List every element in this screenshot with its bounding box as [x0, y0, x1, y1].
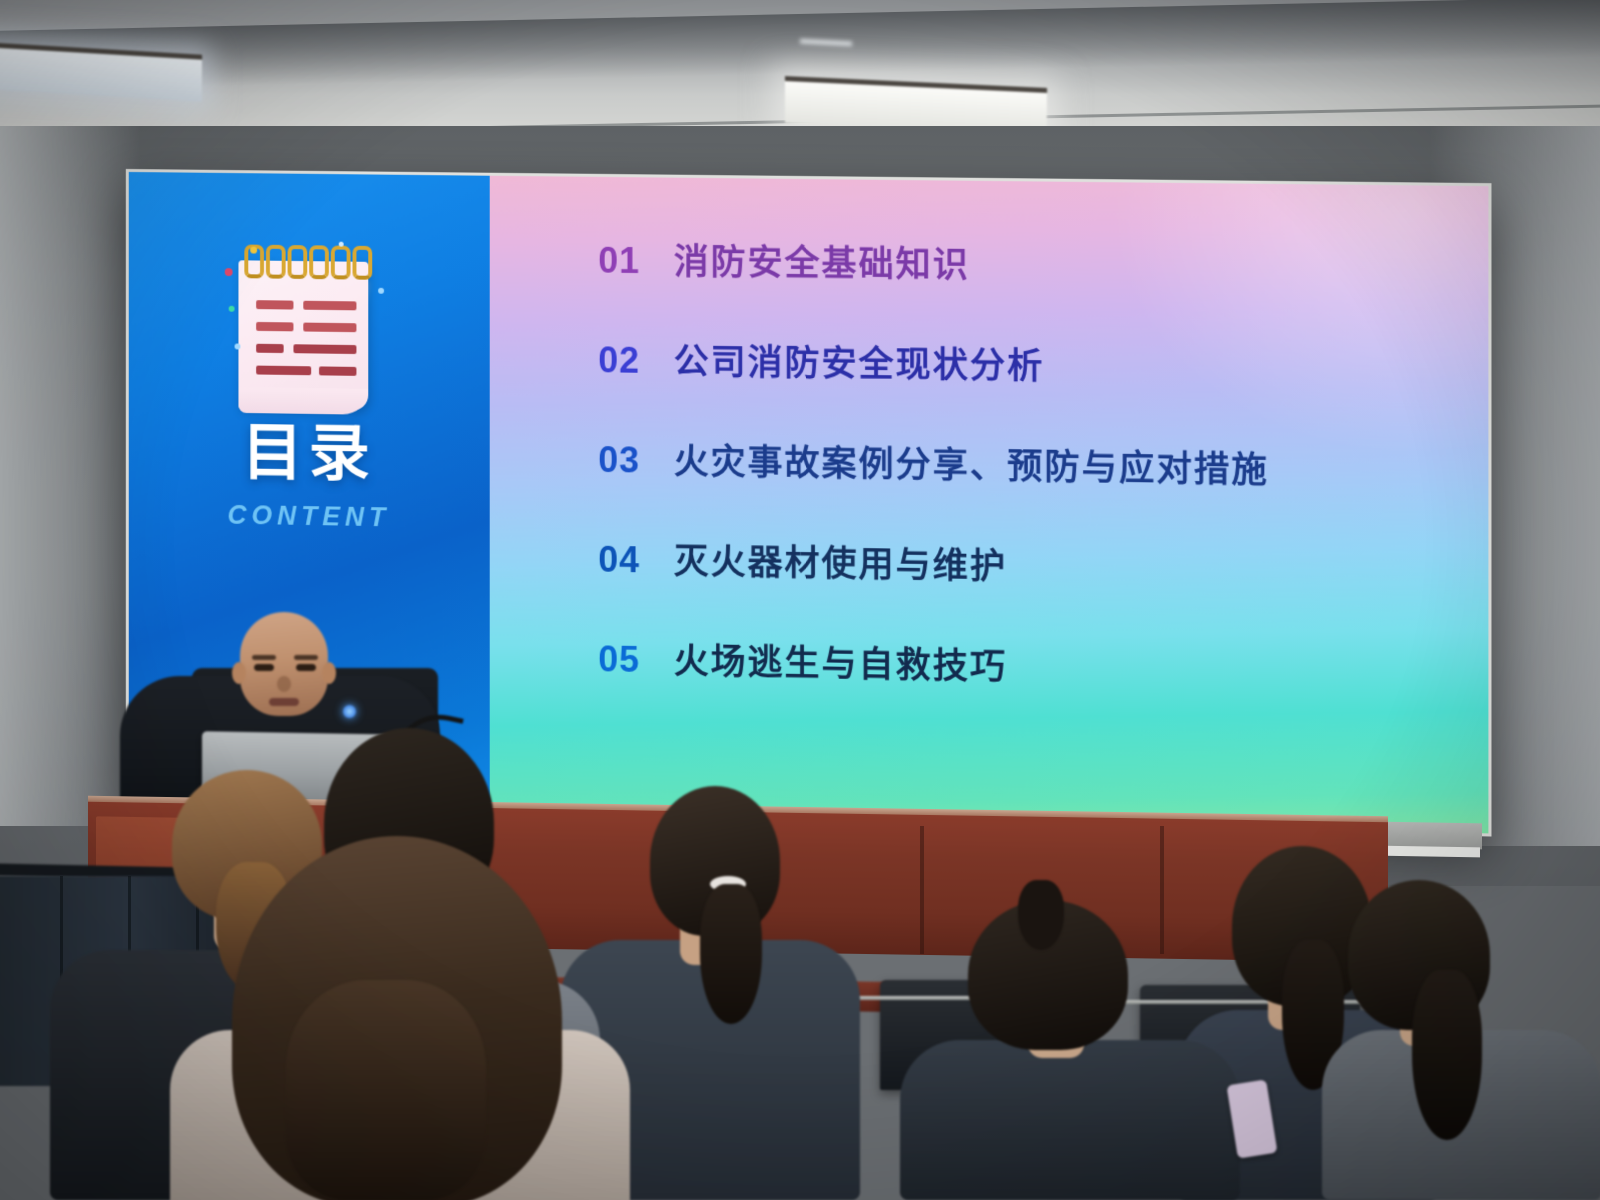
notepad-ring: [352, 246, 372, 280]
presenter-nose: [277, 676, 291, 692]
slide-right-panel: 01 消防安全基础知识 02 公司消防安全现状分析 03 火灾事故案例分享、预防…: [490, 176, 1488, 834]
agenda-item-label: 火灾事故案例分享、预防与应对措施: [674, 433, 1269, 493]
notepad-ring: [266, 245, 286, 279]
podium-seam: [920, 826, 924, 954]
decor-dot: [338, 242, 343, 247]
agenda-item-label: 消防安全基础知识: [674, 234, 970, 289]
photo-scene: 目录 CONTENT 01 消防安全基础知识 02 公司消防安全现状分析: [0, 0, 1600, 1200]
notepad-line: [303, 301, 356, 311]
audience-ponytail: [1412, 970, 1482, 1140]
presenter-mouth: [269, 698, 299, 706]
presenter-badge-light: [343, 705, 356, 718]
notepad-pen-icon: [220, 238, 397, 424]
slide-title-en: CONTENT: [129, 498, 490, 535]
notepad-line: [256, 300, 293, 309]
agenda-item-number: 01: [598, 240, 674, 283]
agenda-item-number: 05: [598, 638, 674, 681]
decor-dot: [250, 247, 257, 254]
slide-title-cn: 目录: [129, 421, 490, 488]
presenter-eye: [254, 664, 274, 671]
audience-ponytail: [700, 884, 762, 1024]
presenter-brow: [252, 655, 276, 660]
notepad-line: [303, 323, 356, 333]
agenda-item-number: 03: [598, 439, 674, 482]
notepad-curl: [238, 387, 368, 415]
notepad-line: [256, 366, 311, 376]
decor-dot: [378, 288, 384, 294]
agenda-item: 03 火灾事故案例分享、预防与应对措施: [598, 432, 1448, 496]
presenter-ear: [322, 662, 336, 684]
audience-torso: [900, 1040, 1240, 1200]
audience-ponytail: [1018, 880, 1064, 950]
notepad-line: [319, 366, 356, 375]
notepad-line: [293, 344, 356, 354]
agenda-item: 01 消防安全基础知识: [598, 233, 1448, 294]
audience-ponytail: [286, 980, 486, 1200]
notepad-line: [256, 322, 293, 331]
agenda-item-label: 公司消防安全现状分析: [674, 333, 1045, 389]
decor-dot: [234, 343, 240, 349]
notepad-ring: [309, 245, 329, 279]
presenter-ear: [232, 662, 246, 684]
wall-highlight-left: [0, 126, 140, 826]
presenter-brow: [294, 655, 318, 660]
podium-seam: [1160, 826, 1164, 954]
notepad-ring: [330, 246, 350, 280]
agenda-item-number: 02: [598, 339, 674, 382]
decor-dot: [224, 268, 232, 276]
notepad-line: [256, 344, 284, 353]
decor-dot: [228, 306, 234, 312]
agenda-item-label: 灭火器材使用与维护: [674, 533, 1007, 590]
agenda-item: 02 公司消防安全现状分析: [598, 332, 1448, 395]
agenda-item-label: 火场逃生与自救技巧: [674, 633, 1007, 690]
agenda-list: 01 消防安全基础知识 02 公司消防安全现状分析 03 火灾事故案例分享、预防…: [598, 233, 1448, 748]
notepad-ring: [287, 245, 307, 279]
agenda-item: 04 灭火器材使用与维护: [598, 532, 1448, 597]
agenda-item-number: 04: [598, 539, 674, 582]
presenter-eye: [296, 664, 316, 671]
agenda-item: 05 火场逃生与自救技巧: [598, 631, 1448, 698]
